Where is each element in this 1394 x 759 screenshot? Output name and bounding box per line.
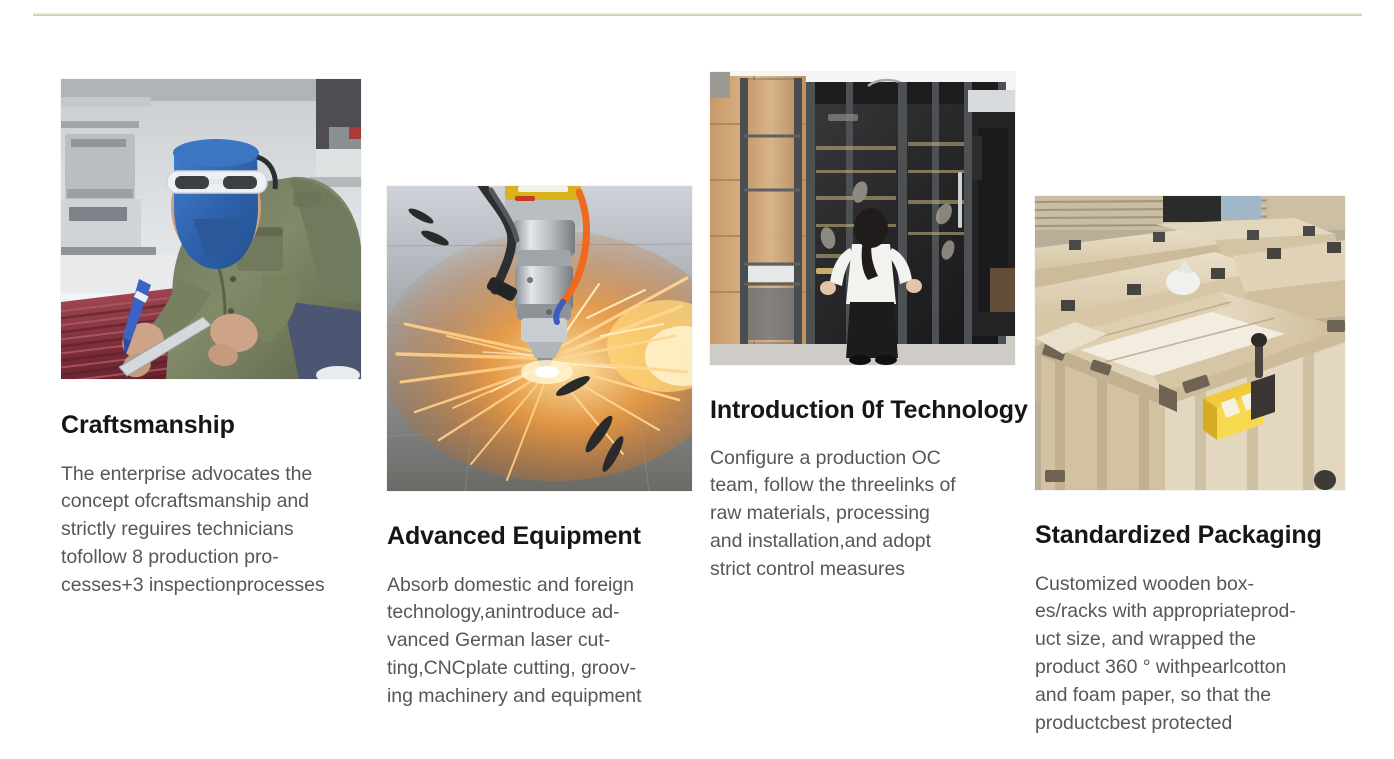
worker-marking-rebar-photo bbox=[61, 79, 361, 379]
feature-panel-technology: Introduction 0f Technology Configure a p… bbox=[710, 72, 1015, 584]
panel-title-technology: Introduction 0f Technology bbox=[710, 397, 1015, 425]
panel-title-craftsmanship: Craftsmanship bbox=[61, 412, 361, 440]
panel-title-equipment: Advanced Equipment bbox=[387, 523, 692, 551]
feature-panel-craftsmanship: Craftsmanship The enterprise advocates t… bbox=[61, 79, 361, 600]
wooden-crates-packaging-photo bbox=[1035, 196, 1345, 490]
panel-body-craftsmanship: The enterprise advocates the concept ofc… bbox=[61, 461, 356, 600]
panel-body-technology: Configure a production OC team, follow t… bbox=[710, 445, 1010, 584]
panel-body-equipment: Absorb domestic and foreign technology,a… bbox=[387, 572, 687, 711]
feature-panel-packaging: Standardized Packaging Customized wooden… bbox=[1035, 196, 1345, 738]
feature-panel-equipment: Advanced Equipment Absorb domestic and f… bbox=[387, 186, 692, 711]
laser-cutting-head-photo bbox=[387, 186, 692, 491]
showroom-door-display-photo bbox=[710, 72, 1015, 365]
panel-body-packaging: Customized wooden box- es/racks with app… bbox=[1035, 571, 1343, 738]
top-divider-rule bbox=[33, 13, 1362, 16]
panel-title-packaging: Standardized Packaging bbox=[1035, 522, 1345, 550]
